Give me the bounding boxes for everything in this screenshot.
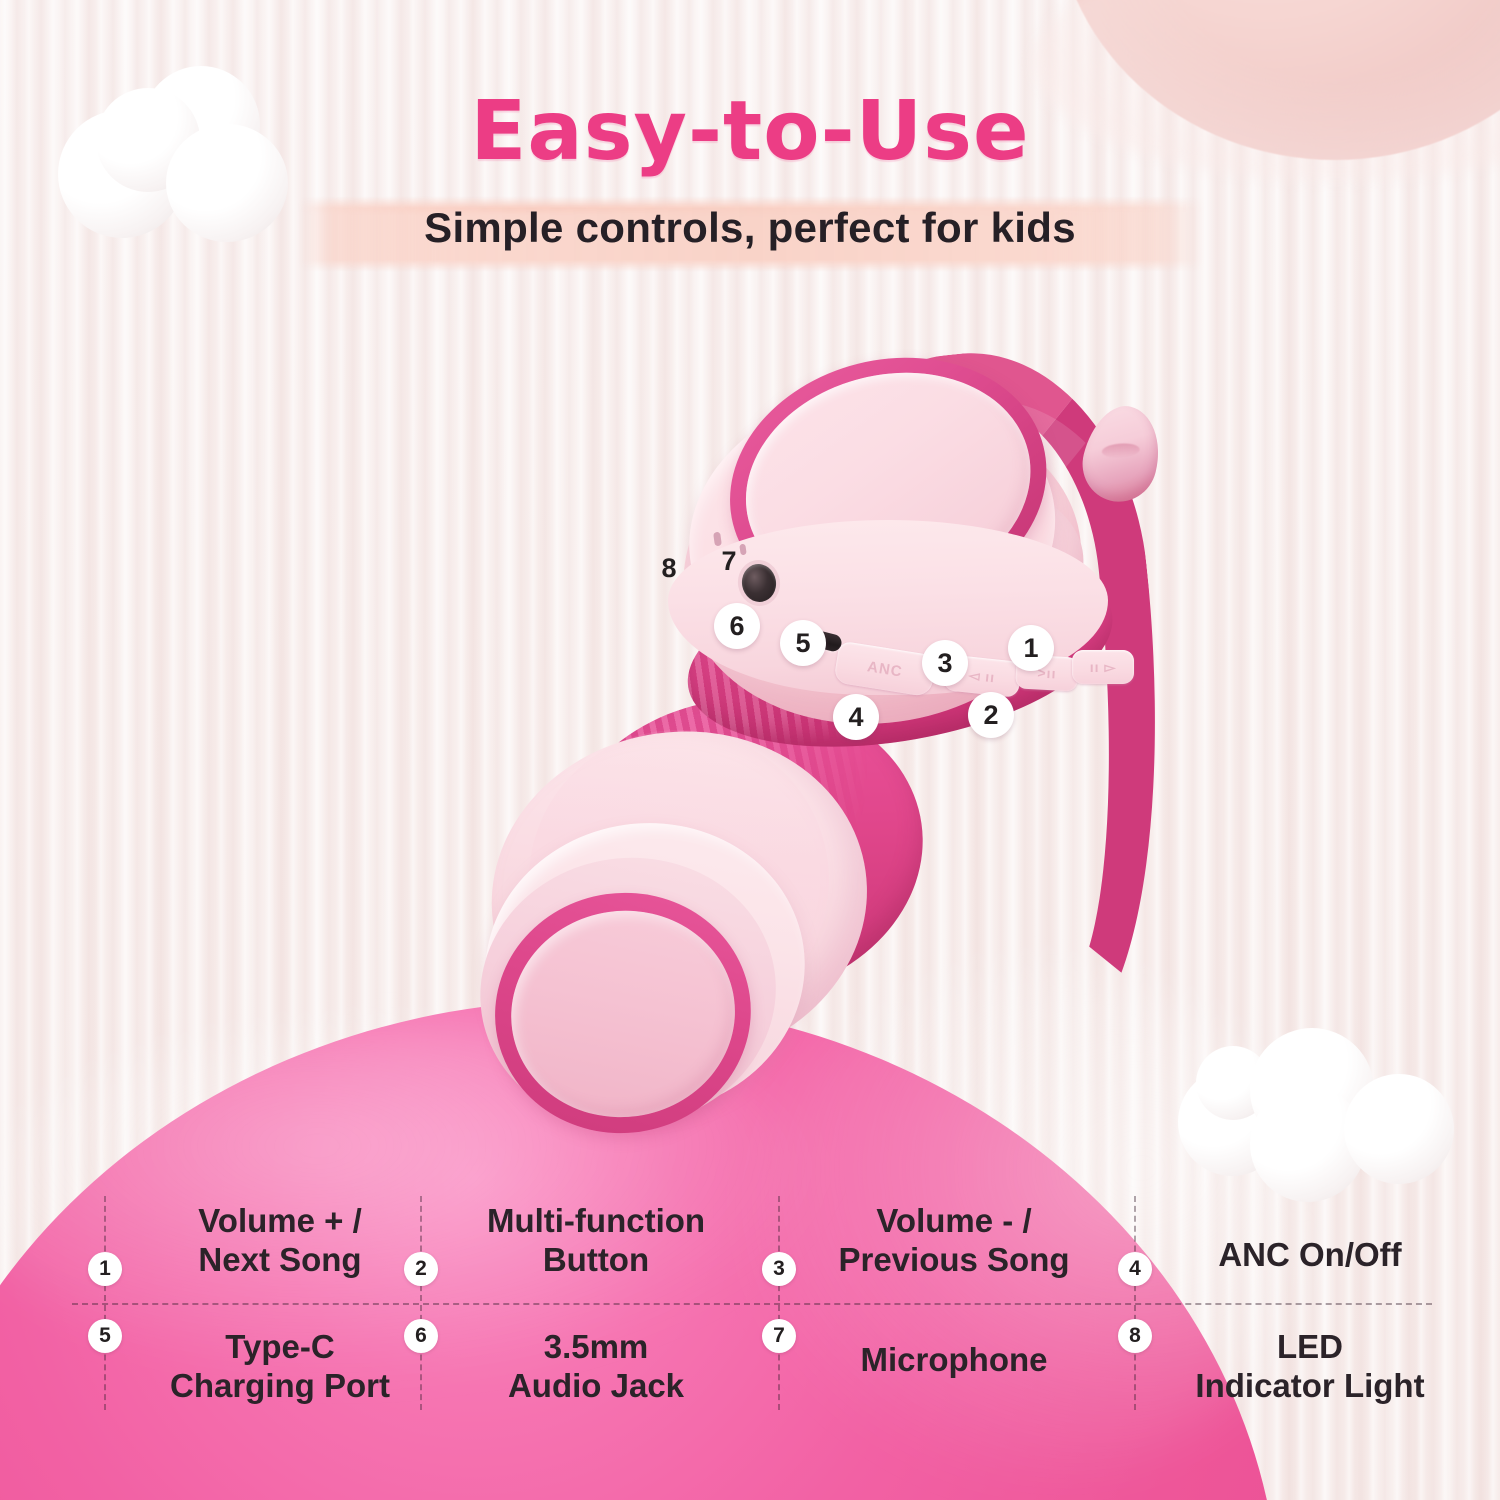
legend-label-line1: Microphone — [778, 1341, 1130, 1380]
callout-badge-3: 3 — [922, 640, 968, 686]
legend-label-line2: Previous Song — [778, 1241, 1130, 1280]
legend-cell-8: 8 LED Indicator Light — [1134, 1303, 1486, 1410]
callout-badge-7: 7 — [706, 538, 752, 584]
callout-badge-5: 5 — [780, 620, 826, 666]
callout-badge-8: 8 — [646, 545, 692, 591]
legend-cell-6: 6 3.5mm Audio Jack — [420, 1303, 772, 1410]
ear-cup-face-cap — [498, 896, 748, 1131]
callout-badge-2: 2 — [968, 692, 1014, 738]
legend-label-line2: Indicator Light — [1134, 1367, 1486, 1406]
infographic-canvas: Easy-to-Use Simple controls, perfect for… — [0, 0, 1500, 1500]
legend-cell-3: 3 Volume - / Previous Song — [778, 1196, 1130, 1303]
legend-label-line1: Multi-function — [420, 1202, 772, 1241]
legend-label-line2: Next Song — [104, 1241, 456, 1280]
next-button[interactable]: ıı ▻ — [1072, 650, 1134, 684]
legend-cell-4: 4 ANC On/Off — [1134, 1196, 1486, 1303]
legend-label-line2: Button — [420, 1241, 772, 1280]
legend-label-line1: Volume - / — [778, 1202, 1130, 1241]
legend-label-line1: LED — [1134, 1328, 1486, 1367]
legend-cell-7: 7 Microphone — [778, 1303, 1130, 1410]
legend-label-line1: ANC On/Off — [1134, 1236, 1486, 1275]
legend-label-line2: Audio Jack — [420, 1367, 772, 1406]
legend-label-line1: 3.5mm — [420, 1328, 772, 1367]
callout-badge-1: 1 — [1008, 625, 1054, 671]
legend-cell-5: 5 Type-C Charging Port — [104, 1303, 456, 1410]
legend-label-line2: Charging Port — [104, 1367, 456, 1406]
feature-legend-table: 1 Volume + / Next Song 2 Multi-function … — [0, 1196, 1500, 1436]
legend-cell-2: 2 Multi-function Button — [420, 1196, 772, 1303]
legend-cell-1: 1 Volume + / Next Song — [104, 1196, 456, 1303]
callout-badge-6: 6 — [714, 603, 760, 649]
legend-label-line1: Volume + / — [104, 1202, 456, 1241]
callout-badge-4: 4 — [833, 694, 879, 740]
